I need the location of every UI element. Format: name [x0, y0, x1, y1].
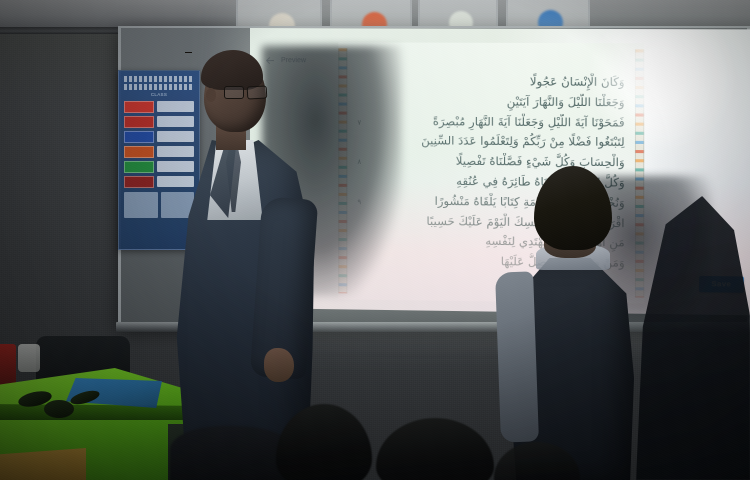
poster-footer-box-1 — [124, 192, 158, 218]
ayah-number: ٧ — [353, 117, 361, 128]
poster-flag-swatch — [124, 116, 154, 128]
poster-flag-swatch — [124, 176, 154, 188]
teacher-hair — [201, 50, 263, 90]
glasses-bridge — [185, 52, 192, 53]
poster-flag-swatch — [124, 146, 154, 158]
mushaf-line: لِتَبْتَغُوا فَضْلًا مِنْ رَبِّكُمْ وَلِ… — [353, 132, 624, 152]
ayah-number: ٩ — [353, 197, 361, 208]
teacher-hand — [264, 348, 294, 382]
classroom-scene: وَكَانَ الْإِنْسَانُ عَجُولًاوَجَعَلْنَا… — [0, 0, 750, 480]
desk-white-roll — [18, 344, 40, 372]
mushaf-line-text: فَمَحَوْنَا آيَةَ اللَّيْلِ وَجَعَلْنَا … — [433, 113, 625, 132]
mushaf-border-left — [338, 48, 347, 293]
ayah-number: ٨ — [353, 157, 361, 168]
mushaf-line: وَجَعَلْنَا اللَّيْلَ وَالنَّهَارَ آيَتَ… — [353, 92, 624, 112]
desk-item-eraser — [44, 400, 74, 418]
mushaf-line: فَمَحَوْنَا آيَةَ اللَّيْلِ وَجَعَلْنَا … — [353, 112, 624, 132]
poster-flag-swatch — [124, 161, 154, 173]
teacher-standing-left — [168, 48, 328, 448]
poster-flag-swatch — [124, 101, 154, 113]
mushaf-line-text: وَجَعَلْنَا اللَّيْلَ وَالنَّهَارَ آيَتَ… — [507, 93, 625, 112]
mushaf-line-text: لِتَبْتَغُوا فَضْلًا مِنْ رَبِّكُمْ وَلِ… — [421, 133, 624, 153]
wall-picture-frame — [506, 0, 590, 28]
desk-red-item — [0, 344, 16, 386]
student-head — [534, 166, 612, 250]
student-sleeve — [495, 271, 539, 442]
glasses-icon — [224, 86, 268, 98]
mushaf-line-text: وَكَانَ الْإِنْسَانُ عَجُولًا — [530, 73, 625, 92]
mushaf-line: وَكَانَ الْإِنْسَانُ عَجُولًا — [353, 72, 624, 91]
poster-flag-swatch — [124, 131, 154, 143]
teacher-ear — [206, 88, 216, 102]
